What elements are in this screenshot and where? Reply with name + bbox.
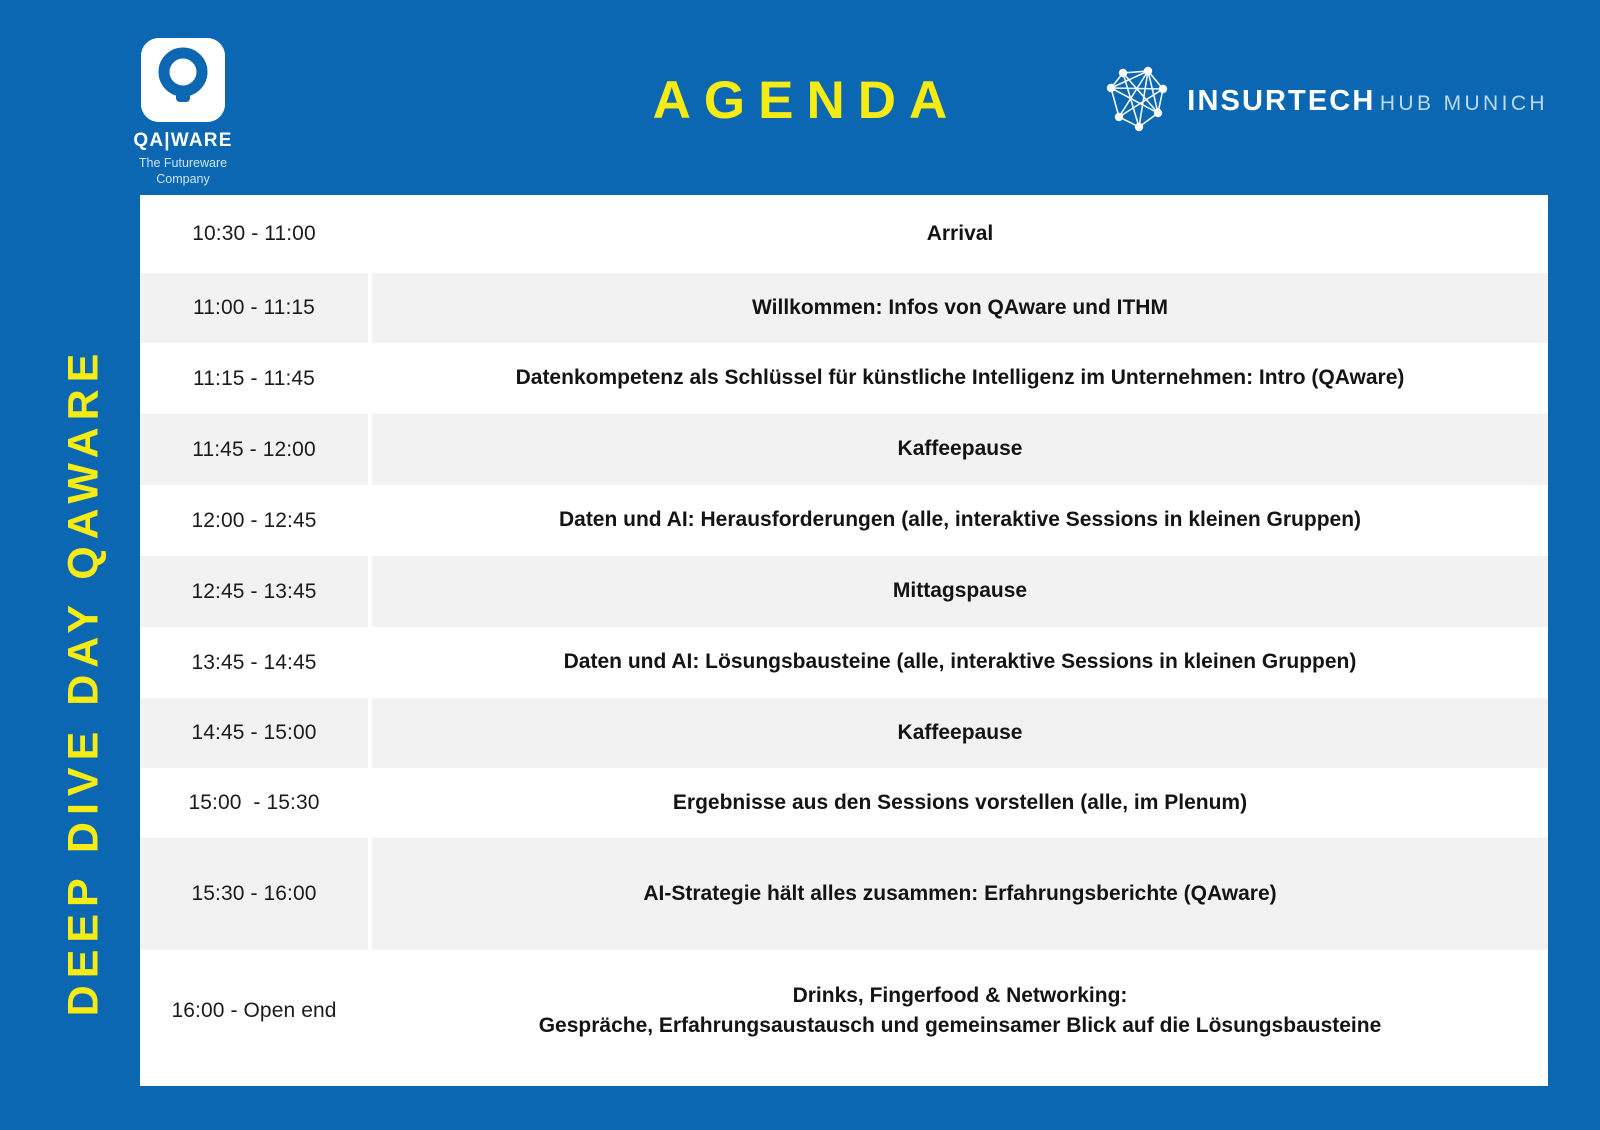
agenda-row-time: 12:45 - 13:45 [140,556,372,627]
agenda-session-line: AI-Strategie hält alles zusammen: Erfahr… [643,879,1276,909]
qaware-tagline: The Futureware Company [123,156,243,187]
agenda-session-line: Willkommen: Infos von QAware und ITHM [752,293,1168,323]
agenda-row-time: 11:00 - 11:15 [140,273,372,343]
qaware-wordmark: QA|WARE [123,131,243,150]
agenda-row-time: 16:00 - Open end [140,950,372,1072]
insurtech-wordmark: INSURTECH HUB MUNICH [1187,86,1548,117]
event-side-label: DEEP DIVE DAY QAWARE [63,242,106,1122]
agenda-row: 13:45 - 14:45Daten und AI: Lösungsbauste… [140,627,1548,698]
agenda-row: 11:00 - 11:15Willkommen: Infos von QAwar… [140,273,1548,343]
agenda-session-line: Gespräche, Erfahrungsaustausch und gemei… [539,1011,1382,1041]
agenda-row: 10:30 - 11:00Arrival [140,195,1548,273]
agenda-row: 11:15 - 11:45Datenkompetenz als Schlüsse… [140,343,1548,414]
page-header: QA|WARE The Futureware Company AGENDA [0,0,1600,195]
agenda-session-line: Drinks, Fingerfood & Networking: [539,981,1382,1011]
agenda-session-line: Ergebnisse aus den Sessions vorstellen (… [673,788,1247,818]
agenda-row-time: 15:30 - 16:00 [140,838,372,950]
agenda-row: 14:45 - 15:00Kaffeepause [140,698,1548,768]
agenda-row: 11:45 - 12:00Kaffeepause [140,414,1548,485]
agenda-row-time: 12:00 - 12:45 [140,485,372,556]
insurtech-name: INSURTECH [1187,85,1375,117]
agenda-row: 12:00 - 12:45Daten und AI: Herausforderu… [140,485,1548,556]
agenda-row-session: AI-Strategie hält alles zusammen: Erfahr… [372,838,1548,950]
agenda-row: 15:00 - 15:30Ergebnisse aus den Sessions… [140,768,1548,838]
agenda-row-session: Willkommen: Infos von QAware und ITHM [372,273,1548,343]
agenda-row-session: Kaffeepause [372,698,1548,768]
agenda-row-time: 11:45 - 12:00 [140,414,372,485]
agenda-row: 16:00 - Open endDrinks, Fingerfood & Net… [140,950,1548,1072]
agenda-row-session: Daten und AI: Lösungsbausteine (alle, in… [372,627,1548,698]
agenda-row-time: 11:15 - 11:45 [140,343,372,414]
agenda-row-time: 15:00 - 15:30 [140,768,372,838]
agenda-session-line: Kaffeepause [898,434,1023,464]
agenda-row-time: 10:30 - 11:00 [140,195,372,273]
qaware-tagline-line1: The Futureware [139,156,227,170]
agenda-session-line: Datenkompetenz als Schlüssel für künstli… [516,363,1405,393]
agenda-session-line: Mittagspause [893,576,1027,606]
insurtech-network-nodes-icon [1099,62,1173,141]
agenda-row-session: Drinks, Fingerfood & Networking:Gespräch… [372,950,1548,1072]
agenda-row-session: Datenkompetenz als Schlüssel für künstli… [372,343,1548,414]
qaware-tagline-line2: Company [156,172,210,186]
insurtech-subtitle: HUB MUNICH [1380,92,1548,115]
agenda-row: 12:45 - 13:45Mittagspause [140,556,1548,627]
agenda-row-time: 13:45 - 14:45 [140,627,372,698]
agenda-session-line: Arrival [927,219,994,249]
agenda-session-line: Daten und AI: Lösungsbausteine (alle, in… [564,647,1357,677]
agenda-row-session: Kaffeepause [372,414,1548,485]
agenda-session-line: Daten und AI: Herausforderungen (alle, i… [559,505,1361,535]
agenda-row-session: Mittagspause [372,556,1548,627]
agenda-row-time: 14:45 - 15:00 [140,698,372,768]
agenda-row-session: Arrival [372,195,1548,273]
insurtech-hub-munich-logo: INSURTECH HUB MUNICH [1099,62,1548,141]
agenda-table: 10:30 - 11:00Arrival11:00 - 11:15Willkom… [140,195,1548,1086]
agenda-row: 15:30 - 16:00AI-Strategie hält alles zus… [140,838,1548,950]
agenda-row-session: Daten und AI: Herausforderungen (alle, i… [372,485,1548,556]
agenda-row-session: Ergebnisse aus den Sessions vorstellen (… [372,768,1548,838]
agenda-session-line: Kaffeepause [898,718,1023,748]
